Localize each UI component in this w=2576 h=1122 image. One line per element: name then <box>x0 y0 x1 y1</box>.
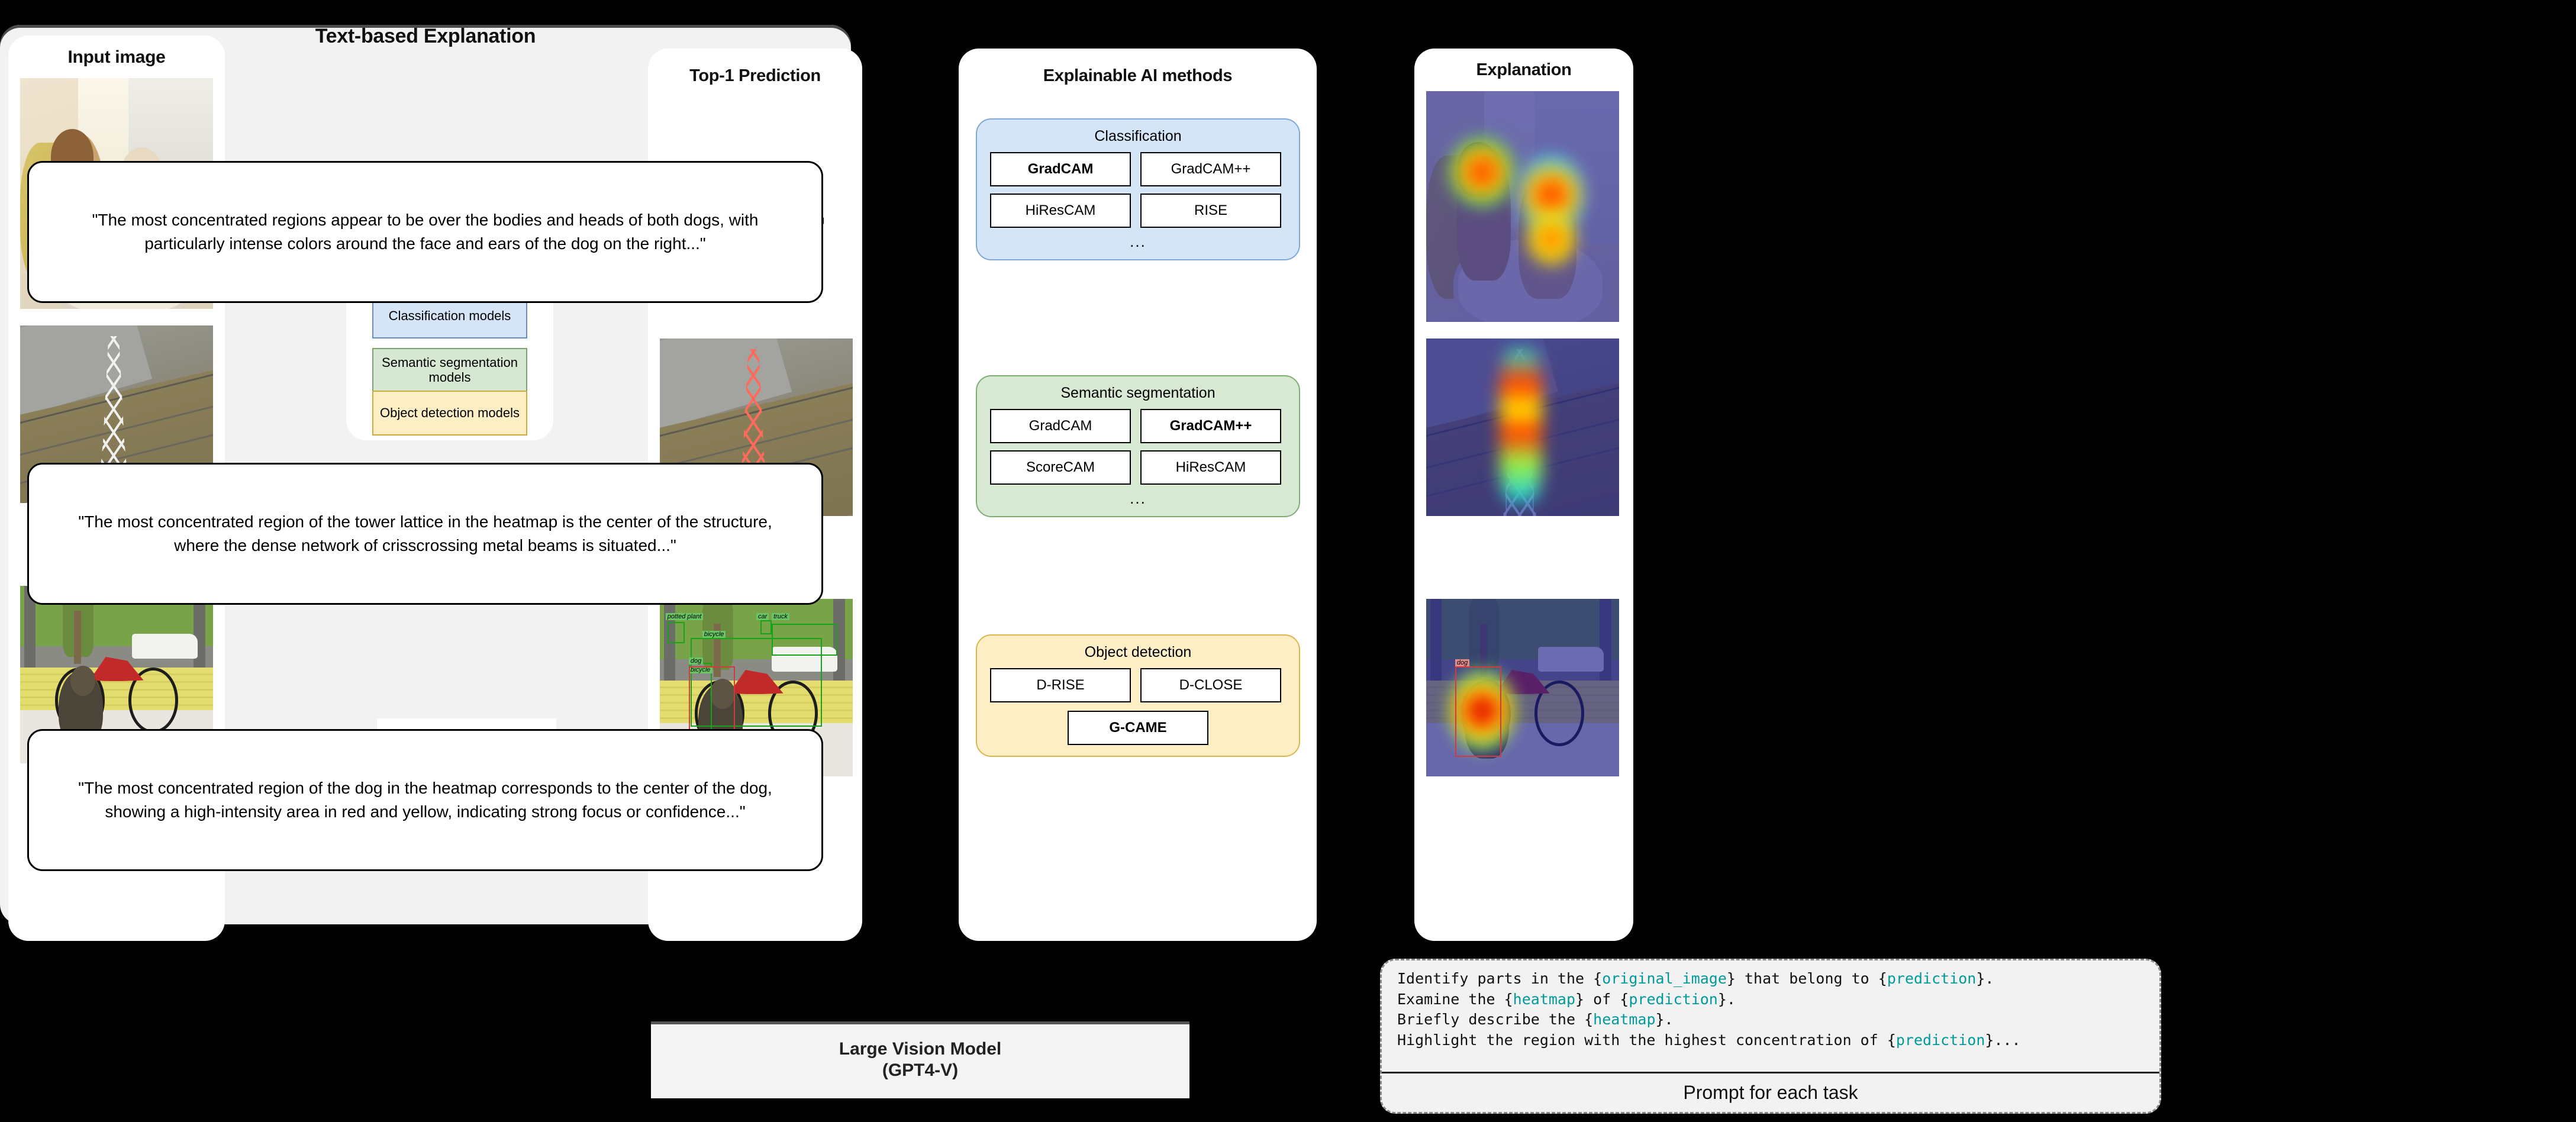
detection-label: dog <box>1455 659 1469 666</box>
xai-method-dclose[interactable]: D-CLOSE <box>1140 668 1281 702</box>
panel-title-prediction: Top-1 Prediction <box>648 66 862 86</box>
panel-title-input: Input image <box>8 47 225 67</box>
panel-title-explanation: Explanation <box>1414 60 1633 80</box>
prompt-token: prediction <box>1629 991 1718 1008</box>
explanation-heatmap-dogs <box>1426 91 1619 322</box>
prompt-line: Identify parts in the {original_image} t… <box>1397 969 2146 989</box>
xai-group-title: Object detection <box>977 636 1299 661</box>
prompt-token: heatmap <box>1513 991 1575 1008</box>
prompt-caption: Prompt for each task <box>1382 1072 2159 1112</box>
xai-group-title: Classification <box>977 120 1299 145</box>
explanation-quote-1: "The most concentrated regions appear to… <box>27 161 823 303</box>
xai-method-scorecam[interactable]: ScoreCAM <box>990 450 1131 485</box>
prompt-token: heatmap <box>1593 1011 1655 1028</box>
quote-text: "The most concentrated region of the dog… <box>56 776 794 824</box>
xai-method-label: D-CLOSE <box>1179 677 1243 694</box>
prompt-text: }. <box>1656 1011 1674 1028</box>
explainable-ai-methods-panel: Explainable AI methods Classification Gr… <box>959 49 1317 941</box>
prompt-text: } that belong to { <box>1727 970 1887 987</box>
cv-model-label: Semantic segmentation models <box>377 356 523 385</box>
xai-method-hirescam[interactable]: HiResCAM <box>990 194 1131 228</box>
cv-model-detection[interactable]: Object detection models <box>372 391 527 436</box>
large-vision-model-box: Large Vision Model (GPT4-V) <box>651 1021 1189 1098</box>
xai-method-gradcam[interactable]: GradCAM <box>990 152 1131 186</box>
explanation-quote-2: "The most concentrated region of the tow… <box>27 463 823 605</box>
prompt-token: original_image <box>1602 970 1727 987</box>
explanation-quote-3: "The most concentrated region of the dog… <box>27 729 823 871</box>
lvm-line-2: (GPT4-V) <box>882 1060 958 1081</box>
xai-method-gradcampp[interactable]: GradCAM++ <box>1140 409 1281 443</box>
xai-method-label: GradCAM <box>1028 161 1094 178</box>
prompt-token: prediction <box>1887 970 1977 987</box>
xai-group-title: Semantic segmentation <box>977 376 1299 402</box>
panel-title-xai: Explainable AI methods <box>959 66 1317 86</box>
xai-method-label: ScoreCAM <box>1026 459 1095 476</box>
xai-group-more: ... <box>977 485 1299 516</box>
xai-method-gradcampp[interactable]: GradCAM++ <box>1140 152 1281 186</box>
explanation-panel: Explanation <box>1414 49 1633 941</box>
prompt-line: Highlight the region with the highest co… <box>1397 1030 2146 1051</box>
xai-method-label: GradCAM++ <box>1170 418 1252 434</box>
prompt-text: } of { <box>1575 991 1629 1008</box>
detection-label: truck <box>772 613 789 620</box>
detection-label: bicycle <box>702 631 726 638</box>
xai-method-label: GradCAM++ <box>1171 161 1251 178</box>
xai-group-segmentation: Semantic segmentation GradCAM GradCAM++ … <box>976 375 1300 517</box>
xai-method-gradcam[interactable]: GradCAM <box>990 409 1131 443</box>
detection-label: dog <box>689 657 703 665</box>
xai-method-drise[interactable]: D-RISE <box>990 668 1131 702</box>
lvm-line-1: Large Vision Model <box>839 1039 1002 1060</box>
xai-method-label: HiResCAM <box>1176 459 1246 476</box>
prompt-token: prediction <box>1896 1031 1985 1049</box>
xai-method-hirescam[interactable]: HiResCAM <box>1140 450 1281 485</box>
prompt-line: Examine the {heatmap} of {prediction}. <box>1397 989 2146 1010</box>
prompt-text: Briefly describe the { <box>1397 1011 1593 1028</box>
quote-text: "The most concentrated region of the tow… <box>56 510 794 557</box>
xai-method-gcame[interactable]: G-CAME <box>1068 711 1208 745</box>
xai-method-label: D-RISE <box>1036 677 1084 694</box>
cv-model-label: Object detection models <box>380 406 520 421</box>
xai-method-label: GradCAM <box>1029 418 1092 434</box>
cv-model-segmentation[interactable]: Semantic segmentation models <box>372 348 527 393</box>
prompt-line: Briefly describe the {heatmap}. <box>1397 1010 2146 1030</box>
prompt-text: }... <box>1985 1031 2020 1049</box>
prompt-template-text: Identify parts in the {original_image} t… <box>1382 960 2159 1056</box>
explanation-heatmap-porch: dog <box>1426 599 1619 776</box>
quote-text: "The most concentrated regions appear to… <box>56 208 794 256</box>
xai-method-label: G-CAME <box>1109 720 1166 736</box>
xai-group-detection: Object detection D-RISE D-CLOSE G-CAME <box>976 634 1300 757</box>
xai-group-classification: Classification GradCAM GradCAM++ HiResCA… <box>976 118 1300 260</box>
prompt-text: Identify parts in the { <box>1397 970 1602 987</box>
prompt-text: Examine the { <box>1397 991 1513 1008</box>
explanation-heatmap-tower <box>1426 338 1619 516</box>
prompt-text: }. <box>1976 970 1994 987</box>
xai-group-more: ... <box>977 228 1299 259</box>
detection-label: potted plant <box>666 613 704 620</box>
prompt-text: }. <box>1718 991 1736 1008</box>
xai-method-label: RISE <box>1194 202 1227 219</box>
detection-label: car <box>756 613 769 620</box>
xai-method-label: HiResCAM <box>1026 202 1096 219</box>
xai-method-rise[interactable]: RISE <box>1140 194 1281 228</box>
prompt-box: Identify parts in the {original_image} t… <box>1380 959 2161 1114</box>
cv-model-label: Classification models <box>389 309 511 324</box>
prompt-text: Highlight the region with the highest co… <box>1397 1031 1896 1049</box>
